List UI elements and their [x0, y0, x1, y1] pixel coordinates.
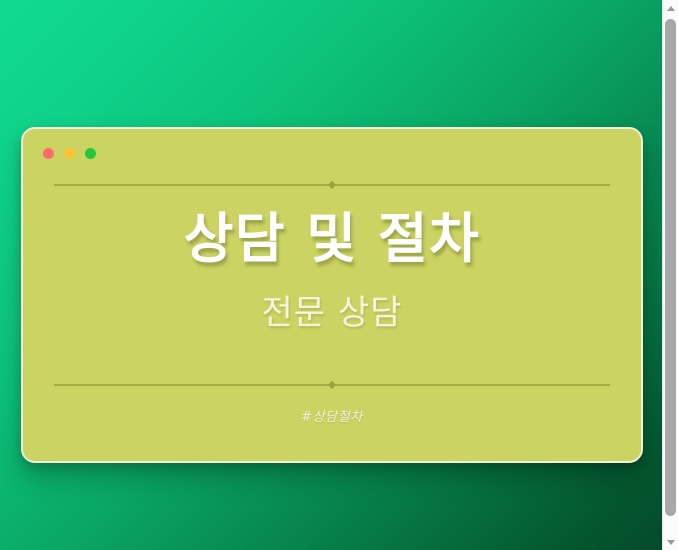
divider-bottom: [54, 380, 610, 389]
slide-title: 상담 및 절차: [23, 189, 641, 269]
slide-page-background: 상담 및 절차 전문 상담 #상담절차: [0, 0, 662, 550]
divider-bottom-knot-icon: [328, 380, 336, 388]
window-controls: [43, 148, 96, 159]
slide-subtitle: 전문 상담: [23, 293, 641, 334]
scrollbar-thumb[interactable]: [665, 19, 676, 516]
vertical-scrollbar[interactable]: [662, 0, 678, 550]
slide-content: 상담 및 절차 전문 상담: [23, 189, 641, 334]
slide-card[interactable]: 상담 및 절차 전문 상담 #상담절차: [21, 127, 643, 463]
maximize-dot-icon[interactable]: [85, 148, 96, 159]
slide-hashtag: #상담절차: [23, 406, 641, 425]
minimize-dot-icon[interactable]: [64, 148, 75, 159]
scroll-down-button[interactable]: [663, 534, 678, 550]
divider-top-knot-icon: [328, 180, 336, 188]
close-dot-icon[interactable]: [43, 148, 54, 159]
browser-viewport: 상담 및 절차 전문 상담 #상담절차: [0, 0, 678, 550]
slide-card-wrapper: 상담 및 절차 전문 상담 #상담절차: [21, 127, 643, 463]
scroll-up-button[interactable]: [663, 0, 678, 16]
chevron-down-icon: [667, 540, 675, 545]
chevron-up-icon: [667, 6, 675, 11]
divider-top: [54, 180, 610, 189]
